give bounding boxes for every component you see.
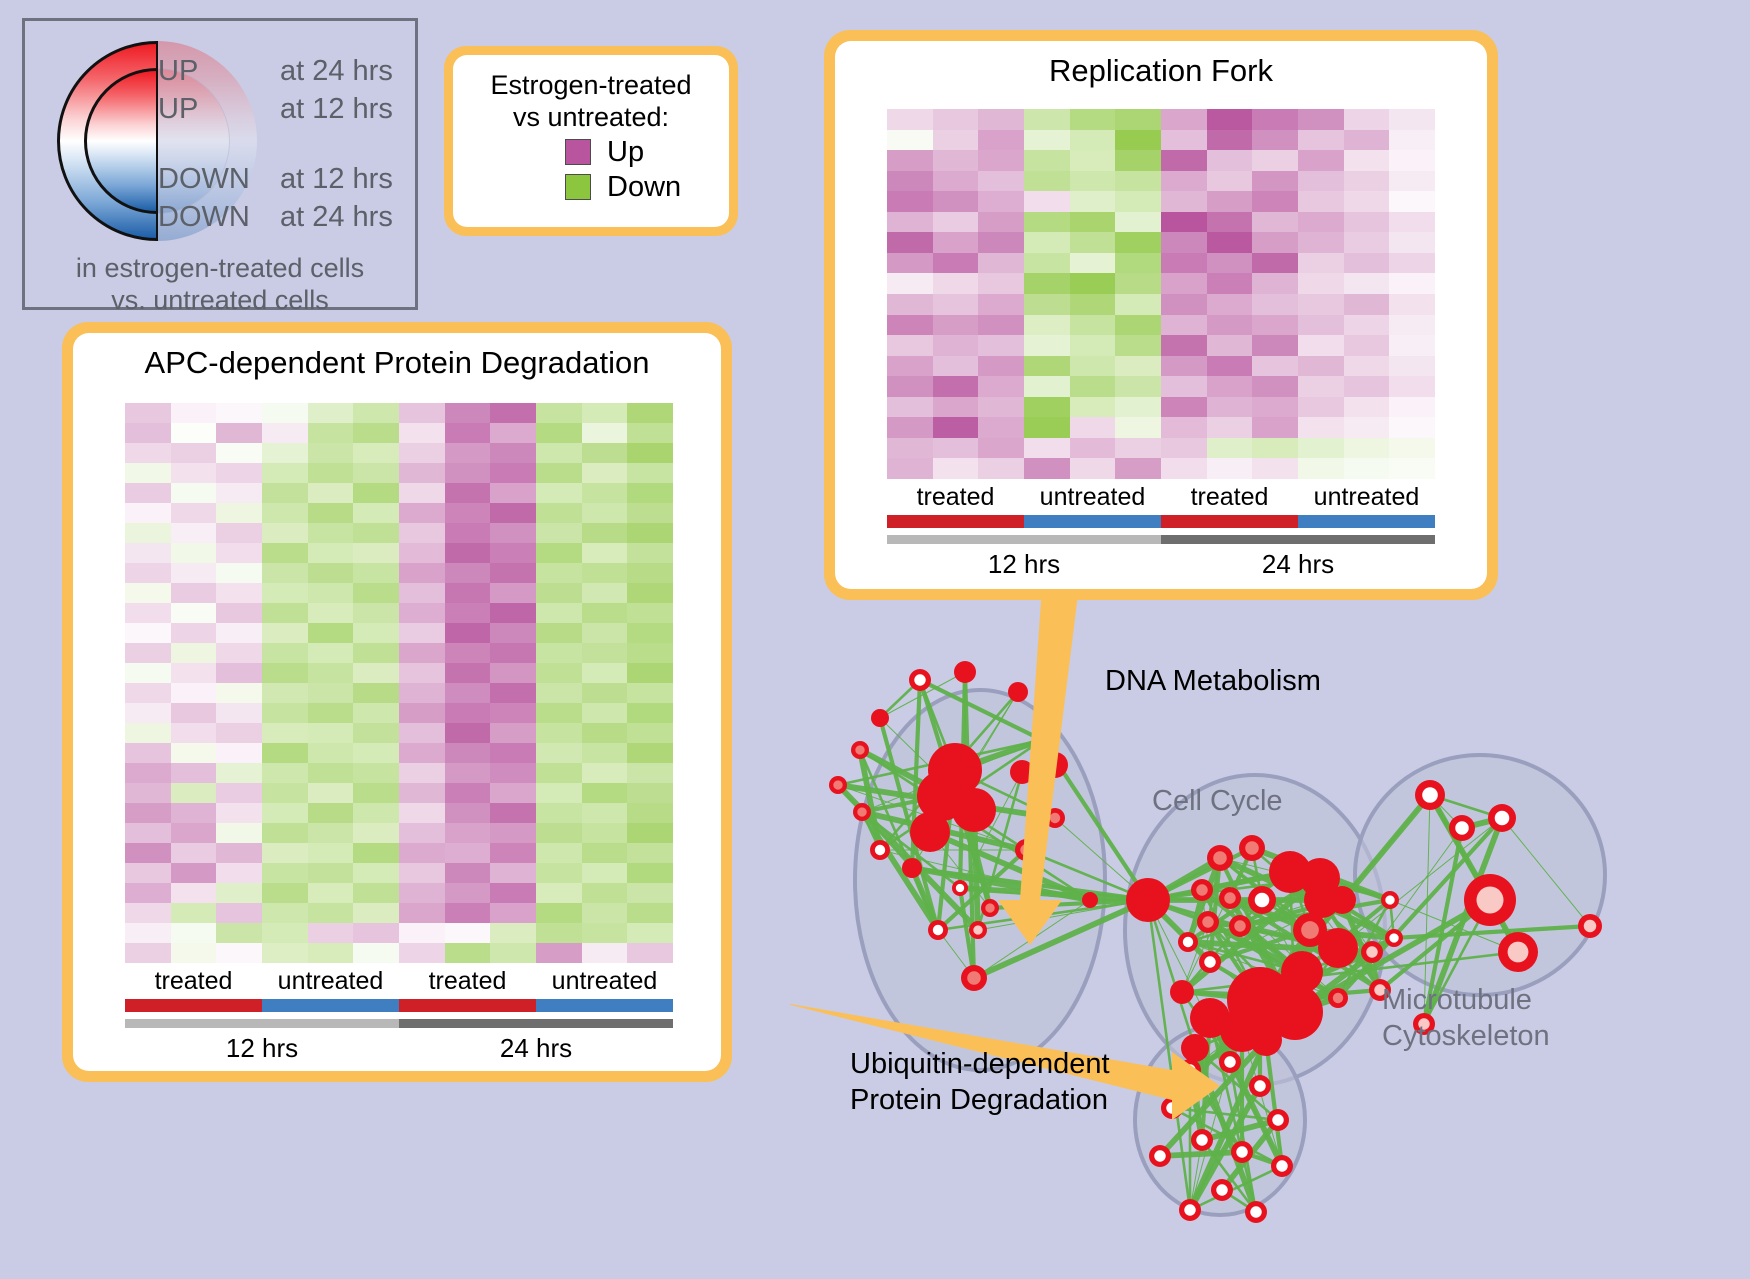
axis-replication-fork: treated untreated treated untreated 12 h… xyxy=(887,483,1435,580)
network-node[interactable] xyxy=(961,965,987,991)
heatmap-cell xyxy=(125,663,171,683)
network-node[interactable] xyxy=(853,803,871,821)
heatmap-cell xyxy=(308,463,354,483)
node-outer-ring xyxy=(871,709,889,727)
heatmap-cell xyxy=(308,743,354,763)
heatmap-cell xyxy=(353,663,399,683)
heatmap-cell xyxy=(1115,150,1161,171)
network-node[interactable] xyxy=(871,709,889,727)
heatmap-apc-degradation xyxy=(125,403,673,963)
time-label-24: 24 hrs xyxy=(1161,549,1435,580)
node-outer-ring xyxy=(1181,1034,1209,1062)
heatmap-cell xyxy=(445,643,491,663)
heatmap-cell xyxy=(1115,212,1161,233)
network-node[interactable] xyxy=(1199,951,1221,973)
legend-caption: in estrogen-treated cells vs. untreated … xyxy=(25,253,415,317)
heatmap-cell xyxy=(125,783,171,803)
network-node[interactable] xyxy=(829,776,847,794)
heatmap-cell xyxy=(445,463,491,483)
legend-item-down: Down xyxy=(565,171,729,204)
node-outer-ring xyxy=(1250,1024,1282,1056)
heatmap-cell xyxy=(216,863,262,883)
heatmap-cell xyxy=(1344,335,1390,356)
cluster-label-ub-line1: Ubiquitin-dependent xyxy=(850,1046,1110,1082)
network-node[interactable] xyxy=(1248,886,1276,914)
network-node[interactable] xyxy=(952,788,996,832)
up-down-legend-inner: Estrogen-treated vs untreated: Up Down xyxy=(453,55,729,227)
heatmap-cell xyxy=(582,423,628,443)
network-node[interactable] xyxy=(1149,1145,1171,1167)
heatmap-cell xyxy=(1298,171,1344,192)
network-node[interactable] xyxy=(1328,988,1348,1008)
heatmap-cell xyxy=(216,883,262,903)
axis-group-label-1: untreated xyxy=(1024,483,1161,515)
heatmap-cell xyxy=(216,823,262,843)
heatmap-cell xyxy=(933,294,979,315)
heatmap-cell xyxy=(1298,417,1344,438)
heatmap-cell xyxy=(490,803,536,823)
heatmap-cell xyxy=(1344,376,1390,397)
treatment-bar-3 xyxy=(1298,515,1435,528)
heatmap-cell xyxy=(216,423,262,443)
network-node[interactable] xyxy=(1229,915,1251,937)
heatmap-cell xyxy=(627,943,673,963)
heatmap-cell xyxy=(353,463,399,483)
panel-replication-fork-inner: Replication Fork treated untreated treat… xyxy=(835,41,1487,589)
node-outer-ring xyxy=(1328,886,1356,914)
legend-time-up-24: at 24 hrs xyxy=(280,55,393,88)
heatmap-cell xyxy=(171,583,217,603)
axis-treatment-bars xyxy=(887,515,1435,528)
node-inner-core xyxy=(1183,937,1193,947)
heatmap-cell xyxy=(1344,397,1390,418)
heatmap-cell xyxy=(582,503,628,523)
heatmap-cell xyxy=(1389,397,1435,418)
heatmap-cell xyxy=(1024,417,1070,438)
heatmap-cell xyxy=(887,315,933,336)
heatmap-cell xyxy=(1161,417,1207,438)
heatmap-cell xyxy=(536,703,582,723)
heatmap-cell xyxy=(1115,335,1161,356)
heatmap-cell xyxy=(399,743,445,763)
heatmap-cell xyxy=(627,823,673,843)
heatmap-cell xyxy=(171,603,217,623)
panel-title-replication-fork: Replication Fork xyxy=(835,41,1487,89)
up-label: Up xyxy=(607,136,644,169)
heatmap-cell xyxy=(216,903,262,923)
heatmap-cell xyxy=(1070,212,1116,233)
heatmap-cell xyxy=(171,423,217,443)
network-node[interactable] xyxy=(1239,835,1265,861)
node-inner-core xyxy=(1385,895,1394,904)
heatmap-cell xyxy=(887,458,933,479)
heatmap-cell xyxy=(582,903,628,923)
heatmap-cell xyxy=(216,843,262,863)
heatmap-cell xyxy=(262,623,308,643)
node-inner-core xyxy=(1495,811,1510,826)
node-inner-core xyxy=(1184,1204,1195,1215)
network-node[interactable] xyxy=(1181,1034,1209,1062)
axis-group-labels: treated untreated treated untreated xyxy=(125,967,673,999)
heatmap-cell xyxy=(445,723,491,743)
node-inner-core xyxy=(933,925,943,935)
network-node[interactable] xyxy=(1449,815,1475,841)
heatmap-cell xyxy=(399,423,445,443)
network-node[interactable] xyxy=(1190,998,1230,1038)
heatmap-cell xyxy=(627,683,673,703)
heatmap-cell xyxy=(1115,232,1161,253)
heatmap-cell xyxy=(1344,417,1390,438)
heatmap-cell xyxy=(887,397,933,418)
heatmap-cell xyxy=(171,943,217,963)
heatmap-cell xyxy=(1115,438,1161,459)
heatmap-cell xyxy=(1115,397,1161,418)
heatmap-cell xyxy=(627,743,673,763)
network-node[interactable] xyxy=(1361,941,1383,963)
heatmap-cell xyxy=(125,523,171,543)
network-node[interactable] xyxy=(1328,886,1356,914)
heatmap-cell xyxy=(125,603,171,623)
node-inner-core xyxy=(1508,942,1529,963)
node-inner-core xyxy=(855,745,864,754)
heatmap-cell xyxy=(399,483,445,503)
node-inner-core xyxy=(1216,1184,1227,1195)
network-node[interactable] xyxy=(1249,1075,1271,1097)
heatmap-cell xyxy=(445,403,491,423)
node-outer-ring xyxy=(954,661,976,683)
heatmap-cell xyxy=(308,503,354,523)
legend-time-up-12: at 12 hrs xyxy=(280,93,393,126)
heatmap-cell xyxy=(536,923,582,943)
heatmap-cell xyxy=(887,335,933,356)
heatmap-cell xyxy=(627,503,673,523)
heatmap-cell xyxy=(1024,150,1070,171)
heatmap-cell xyxy=(216,443,262,463)
heatmap-cell xyxy=(1207,212,1253,233)
network-node[interactable] xyxy=(1170,980,1194,1004)
heatmap-cell xyxy=(1252,397,1298,418)
heatmap-cell xyxy=(1070,315,1116,336)
heatmap-cell xyxy=(933,315,979,336)
heatmap-cell xyxy=(399,543,445,563)
heatmap-cell xyxy=(1070,335,1116,356)
heatmap-cell xyxy=(490,903,536,923)
heatmap-cell xyxy=(490,863,536,883)
axis-group-label-2: treated xyxy=(399,967,536,999)
heatmap-cell xyxy=(490,663,536,683)
network-node[interactable] xyxy=(1271,1155,1293,1177)
heatmap-cell xyxy=(1207,417,1253,438)
network-node[interactable] xyxy=(1250,1024,1282,1056)
axis-group-label-1: untreated xyxy=(262,967,399,999)
axis-apc-degradation: treated untreated treated untreated 12 h… xyxy=(125,967,673,1064)
network-node[interactable] xyxy=(981,899,999,917)
network-node[interactable] xyxy=(1207,845,1233,871)
heatmap-cell xyxy=(490,723,536,743)
network-node[interactable] xyxy=(1178,932,1198,952)
heatmap-cell xyxy=(627,903,673,923)
network-node[interactable] xyxy=(1211,1179,1233,1201)
heatmap-cell xyxy=(399,403,445,423)
network-node[interactable] xyxy=(1488,804,1516,832)
heatmap-cell xyxy=(445,563,491,583)
node-inner-core xyxy=(1250,1206,1261,1217)
network-node[interactable] xyxy=(952,880,968,896)
heatmap-cell xyxy=(1161,438,1207,459)
time-label-24: 24 hrs xyxy=(399,1033,673,1064)
heatmap-cell xyxy=(262,523,308,543)
heatmap-cell xyxy=(262,463,308,483)
heatmap-cell xyxy=(1024,171,1070,192)
heatmap-cell xyxy=(627,783,673,803)
cluster-label-dna-metabolism: DNA Metabolism xyxy=(1105,665,1321,698)
network-node[interactable] xyxy=(1498,932,1538,972)
heatmap-cell xyxy=(582,583,628,603)
heatmap-cell xyxy=(887,253,933,274)
node-inner-core xyxy=(833,780,842,789)
heatmap-cell xyxy=(262,483,308,503)
heatmap-cell xyxy=(171,483,217,503)
heatmap-cell xyxy=(536,843,582,863)
heatmap-cell xyxy=(1115,376,1161,397)
network-node[interactable] xyxy=(1267,1109,1289,1131)
heatmap-cell xyxy=(353,903,399,923)
network-node[interactable] xyxy=(1008,682,1028,702)
heatmap-cell xyxy=(582,623,628,643)
node-inner-core xyxy=(985,903,994,912)
heatmap-cell xyxy=(490,883,536,903)
heatmap-cell xyxy=(490,683,536,703)
heatmap-cell xyxy=(1298,315,1344,336)
network-node[interactable] xyxy=(910,812,950,852)
heatmap-cell xyxy=(1389,109,1435,130)
treatment-bar-1 xyxy=(262,999,399,1012)
heatmap-cell xyxy=(887,191,933,212)
heatmap-cell xyxy=(582,663,628,683)
heatmap-cell xyxy=(1344,212,1390,233)
heatmap-cell xyxy=(490,703,536,723)
heatmap-cell xyxy=(171,463,217,483)
heatmap-cell xyxy=(1344,273,1390,294)
heatmap-cell xyxy=(978,397,1024,418)
heatmap-cell xyxy=(353,543,399,563)
node-inner-core xyxy=(1389,933,1398,942)
heatmap-cell xyxy=(308,623,354,643)
heatmap-cell xyxy=(536,503,582,523)
network-node[interactable] xyxy=(954,661,976,683)
heatmap-cell xyxy=(627,543,673,563)
network-node[interactable] xyxy=(902,858,922,878)
heatmap-cell xyxy=(399,803,445,823)
heatmap-cell xyxy=(262,863,308,883)
heatmap-cell xyxy=(1070,294,1116,315)
heatmap-cell xyxy=(887,130,933,151)
network-node[interactable] xyxy=(1219,1051,1241,1073)
heatmap-cell xyxy=(353,723,399,743)
heatmap-cell xyxy=(216,623,262,643)
heatmap-cell xyxy=(536,523,582,543)
heatmap-cell xyxy=(445,903,491,923)
heatmap-cell xyxy=(125,503,171,523)
heatmap-cell xyxy=(887,109,933,130)
heatmap-cell xyxy=(1298,294,1344,315)
heatmap-cell xyxy=(1389,191,1435,212)
heatmap-cell xyxy=(308,843,354,863)
heatmap-cell xyxy=(1161,150,1207,171)
network-node[interactable] xyxy=(870,840,890,860)
heatmap-cell xyxy=(1161,212,1207,233)
heatmap-cell xyxy=(125,463,171,483)
heatmap-cell xyxy=(1207,376,1253,397)
heatmap-cell xyxy=(262,683,308,703)
heatmap-cell xyxy=(308,583,354,603)
heatmap-cell xyxy=(445,603,491,623)
heatmap-cell xyxy=(445,863,491,883)
heatmap-cell xyxy=(1024,335,1070,356)
panel-replication-fork: Replication Fork treated untreated treat… xyxy=(824,30,1498,600)
heatmap-cell xyxy=(1252,212,1298,233)
network-node[interactable] xyxy=(1082,892,1098,908)
node-outer-ring xyxy=(1318,928,1358,968)
heatmap-cell xyxy=(445,423,491,443)
network-node[interactable] xyxy=(1191,879,1213,901)
node-inner-core xyxy=(1276,1160,1287,1171)
heatmap-cell xyxy=(308,783,354,803)
heatmap-cell xyxy=(1252,438,1298,459)
heatmap-cell xyxy=(308,923,354,943)
heatmap-cell xyxy=(171,723,217,743)
heatmap-cell xyxy=(216,523,262,543)
axis-group-labels: treated untreated treated untreated xyxy=(887,483,1435,515)
network-node[interactable] xyxy=(1126,878,1170,922)
network-node[interactable] xyxy=(1179,1199,1201,1221)
heatmap-cell xyxy=(1298,397,1344,418)
heatmap-cell xyxy=(1161,315,1207,336)
heatmap-cell xyxy=(262,563,308,583)
heatmap-cell xyxy=(445,843,491,863)
heatmap-cell xyxy=(490,463,536,483)
heatmap-cell xyxy=(171,543,217,563)
heatmap-cell xyxy=(1207,273,1253,294)
heatmap-cell xyxy=(1115,191,1161,212)
cluster-label-ubiquitin-degradation: Ubiquitin-dependent Protein Degradation xyxy=(850,1046,1110,1119)
heatmap-cell xyxy=(216,463,262,483)
heatmap-cell xyxy=(1207,458,1253,479)
heatmap-cell xyxy=(262,943,308,963)
heatmap-cell xyxy=(171,703,217,723)
heatmap-cell xyxy=(1389,356,1435,377)
network-node[interactable] xyxy=(1191,1129,1213,1151)
heatmap-cell xyxy=(978,273,1024,294)
heatmap-cell xyxy=(1161,356,1207,377)
network-node[interactable] xyxy=(969,921,987,939)
heatmap-cell xyxy=(308,423,354,443)
heatmap-cell xyxy=(353,683,399,703)
heatmap-cell xyxy=(1252,273,1298,294)
node-inner-core xyxy=(1301,921,1319,939)
time-bar-24 xyxy=(1161,535,1435,544)
network-node[interactable] xyxy=(1197,911,1219,933)
network-node[interactable] xyxy=(909,669,931,691)
heatmap-cell xyxy=(1070,171,1116,192)
heatmap-cell xyxy=(216,503,262,523)
heatmap-cell xyxy=(262,783,308,803)
network-node[interactable] xyxy=(1231,1141,1253,1163)
heatmap-cell xyxy=(627,883,673,903)
node-inner-core xyxy=(1255,893,1270,908)
heatmap-cell xyxy=(216,683,262,703)
network-node[interactable] xyxy=(1318,928,1358,968)
heatmap-cell xyxy=(445,783,491,803)
network-node[interactable] xyxy=(1381,891,1399,909)
heatmap-replication-fork xyxy=(887,109,1435,479)
heatmap-cell xyxy=(445,943,491,963)
heatmap-cell xyxy=(933,356,979,377)
network-node[interactable] xyxy=(1578,914,1602,938)
heatmap-cell xyxy=(125,583,171,603)
heatmap-cell xyxy=(627,563,673,583)
heatmap-cell xyxy=(1207,438,1253,459)
network-node[interactable] xyxy=(928,920,948,940)
network-node[interactable] xyxy=(1219,887,1241,909)
heatmap-cell xyxy=(125,883,171,903)
heatmap-cell xyxy=(262,663,308,683)
heatmap-cell xyxy=(1389,273,1435,294)
heatmap-cell xyxy=(399,943,445,963)
heatmap-cell xyxy=(1389,171,1435,192)
network-node[interactable] xyxy=(1415,780,1445,810)
heatmap-cell xyxy=(125,763,171,783)
heatmap-cell xyxy=(1344,232,1390,253)
heatmap-cell xyxy=(933,417,979,438)
heatmap-cell xyxy=(171,843,217,863)
node-inner-core xyxy=(1455,821,1469,835)
heatmap-cell xyxy=(1115,315,1161,336)
heatmap-cell xyxy=(1070,191,1116,212)
heatmap-cell xyxy=(978,417,1024,438)
network-node[interactable] xyxy=(851,741,869,759)
heatmap-cell xyxy=(216,943,262,963)
treatment-bar-3 xyxy=(536,999,673,1012)
heatmap-cell xyxy=(1207,397,1253,418)
heatmap-cell xyxy=(308,543,354,563)
node-inner-core xyxy=(1204,956,1215,967)
node-outer-ring xyxy=(1082,892,1098,908)
heatmap-cell xyxy=(216,743,262,763)
network-node[interactable] xyxy=(1385,929,1403,947)
heatmap-cell xyxy=(125,863,171,883)
heatmap-cell xyxy=(1344,253,1390,274)
heatmap-cell xyxy=(445,923,491,943)
node-inner-core xyxy=(1050,813,1060,823)
heatmap-cell xyxy=(399,903,445,923)
heatmap-cell xyxy=(1024,294,1070,315)
heatmap-cell xyxy=(171,643,217,663)
heatmap-cell xyxy=(933,397,979,418)
network-node[interactable] xyxy=(1464,874,1516,926)
heatmap-cell xyxy=(353,503,399,523)
heatmap-cell xyxy=(399,843,445,863)
heatmap-cell xyxy=(887,417,933,438)
legend-time-down-24: at 24 hrs xyxy=(280,201,393,234)
heatmap-cell xyxy=(353,863,399,883)
network-node[interactable] xyxy=(1245,1201,1267,1223)
heatmap-cell xyxy=(1344,130,1390,151)
heatmap-cell xyxy=(125,563,171,583)
heatmap-cell xyxy=(490,943,536,963)
heatmap-cell xyxy=(978,356,1024,377)
heatmap-cell xyxy=(1344,294,1390,315)
